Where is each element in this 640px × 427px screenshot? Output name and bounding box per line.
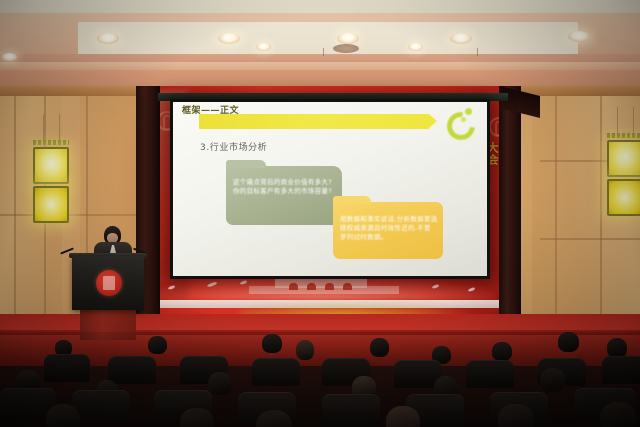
- slide-callout-green: 这个痛点背后的商业价值有多大? 你的目标客户有多大的市场容量?: [226, 166, 342, 225]
- slide-title: 框架——正文: [182, 103, 239, 116]
- recessed-downlight: [218, 33, 240, 44]
- smiley-swirl-logo: [447, 108, 473, 132]
- auditorium-seat: [466, 360, 514, 388]
- audience-head: [607, 338, 627, 358]
- institution-seal: [96, 270, 122, 296]
- wall-trim-left: [0, 86, 150, 96]
- slide-heading: 3.行业市场分析: [200, 140, 267, 153]
- audience-head: [492, 342, 512, 361]
- lantern-wall-sconce: [33, 140, 69, 223]
- audience-head: [262, 334, 282, 353]
- slide-callout-orange: 用数据和事实说话,分析数据要选 择权威来源且时效性近的,不要 罗列过时数据。: [333, 202, 443, 259]
- recessed-downlight: [337, 33, 359, 44]
- projection-screen-frame: 框架——正文 3.行业市场分析 分析观点 这个痛点背后的商业价值有多大? 你的目…: [170, 99, 490, 279]
- audience-head: [208, 372, 232, 395]
- slide-title-bar: [199, 114, 429, 129]
- audience-head: [180, 408, 214, 427]
- callout-line: 这个痛点背后的商业价值有多大?: [233, 178, 335, 187]
- audience-head: [600, 402, 636, 427]
- callout-line: 你的目标客户有多大的市场容量?: [233, 187, 335, 196]
- auditorium-photo: 大会 框架——正文 3.行业市场分析 分析观点: [0, 0, 640, 427]
- audience-head: [296, 340, 314, 360]
- auditorium-seat: [108, 356, 156, 384]
- audience-head: [558, 332, 579, 352]
- auditorium-seat: [602, 356, 640, 384]
- ceiling-upper-plane: [0, 0, 640, 14]
- recessed-downlight: [2, 53, 17, 61]
- audience-head: [148, 336, 167, 354]
- audience-head: [370, 338, 389, 357]
- wall-seam: [555, 96, 557, 331]
- ceiling-hanger-rod: [323, 48, 324, 56]
- auditorium-seat: [72, 390, 130, 424]
- stage-curtain: [499, 86, 521, 322]
- wall-seam: [540, 238, 640, 240]
- recessed-downlight: [568, 31, 590, 42]
- audience-area: [0, 332, 640, 427]
- recessed-downlight: [256, 43, 271, 51]
- auditorium-seat: [252, 358, 300, 386]
- ceiling-hanger-rod: [477, 48, 478, 56]
- recessed-downlight: [408, 43, 423, 51]
- ceiling-vent: [333, 44, 359, 53]
- audience-head: [46, 404, 80, 427]
- callout-line: 择权威来源且时效性近的,不要: [340, 224, 436, 233]
- presentation-slide: 框架——正文 3.行业市场分析 分析观点 这个痛点背后的商业价值有多大? 你的目…: [173, 102, 487, 276]
- auditorium-seat: [44, 354, 90, 382]
- audience-head: [540, 368, 565, 392]
- callout-line: 用数据和事实说话,分析数据要选: [340, 215, 436, 224]
- callout-line: 罗列过时数据。: [340, 233, 436, 242]
- lantern-wall-sconce: [607, 133, 640, 216]
- audience-head: [386, 406, 420, 427]
- recessed-downlight: [97, 33, 119, 44]
- audience-head: [498, 404, 534, 427]
- wall-seam: [600, 96, 602, 331]
- ceiling-recess: [78, 22, 578, 58]
- auditorium-seat: [322, 394, 380, 427]
- recessed-downlight: [450, 33, 472, 44]
